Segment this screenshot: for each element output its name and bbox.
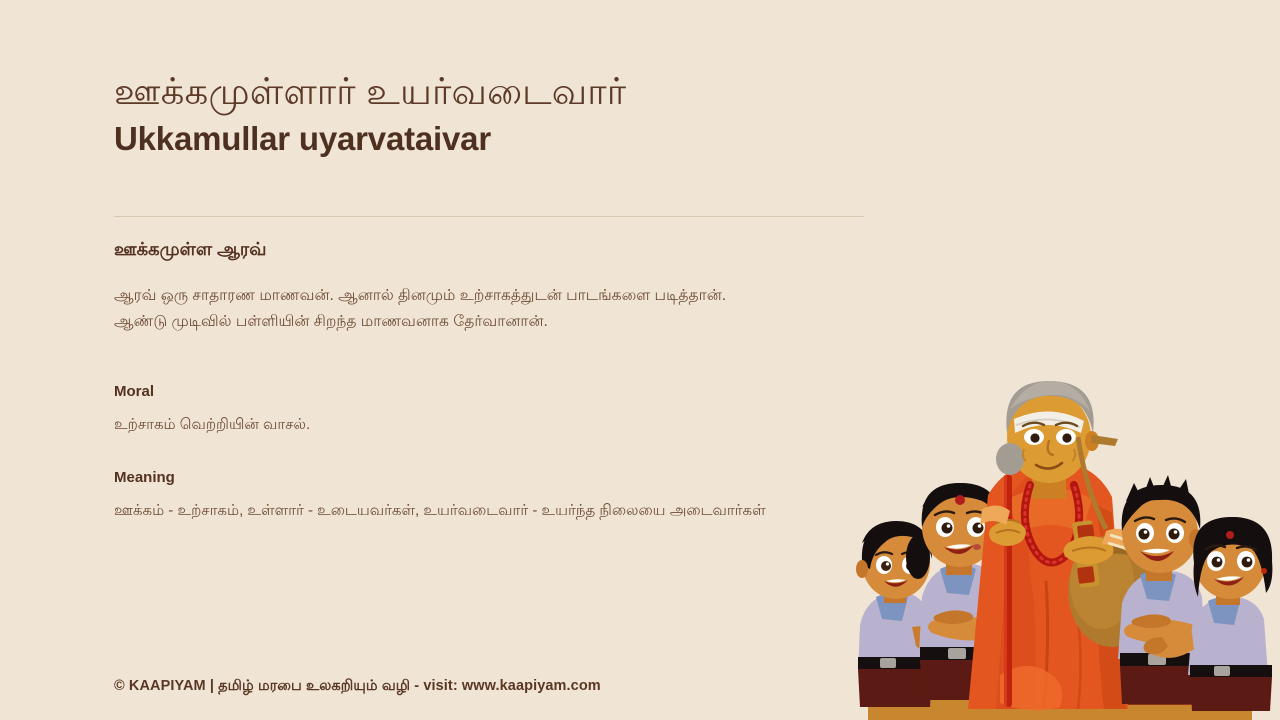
page-title-tamil: ஊக்கமுள்ளார் உயர்வடைவார் [114, 70, 874, 114]
footer-credit: © KAAPIYAM | தமிழ் மரபை உலகறியும் வழி - … [114, 678, 601, 696]
moral-block: Moral உற்சாகம் வெற்றியின் வாசல். [114, 383, 894, 437]
moral-text: உற்சாகம் வெற்றியின் வாசல். [114, 413, 894, 437]
story-paragraph: ஆரவ் ஒரு சாதாரண மாணவன். ஆனால் தினமும் உற… [114, 283, 874, 333]
story-heading: ஊக்கமுள்ள ஆரவ் [114, 238, 894, 261]
header-divider [114, 216, 864, 217]
proverb-card: ஊக்கமுள்ளார் உயர்வடைவார் Ukkamullar uyar… [0, 0, 1280, 720]
meaning-label: Meaning [114, 469, 914, 487]
story-block: ஊக்கமுள்ள ஆரவ் ஆரவ் ஒரு சாதாரண மாணவன். ஆ… [114, 238, 894, 334]
sage-with-children-illustration [840, 375, 1280, 720]
story-line-2: ஆண்டு முடிவில் பள்ளியின் சிறந்த மாணவனாக … [114, 309, 874, 334]
header-block: ஊக்கமுள்ளார் உயர்வடைவார் Ukkamullar uyar… [114, 70, 874, 159]
story-line-1: ஆரவ் ஒரு சாதாரண மாணவன். ஆனால் தினமும் உற… [114, 283, 874, 308]
meaning-text: ஊக்கம் - உற்சாகம், உள்ளார் - உடையவர்கள்,… [114, 499, 914, 523]
moral-label: Moral [114, 383, 894, 401]
page-title-transliteration: Ukkamullar uyarvataivar [114, 120, 874, 159]
meaning-block: Meaning ஊக்கம் - உற்சாகம், உள்ளார் - உடை… [114, 469, 914, 523]
